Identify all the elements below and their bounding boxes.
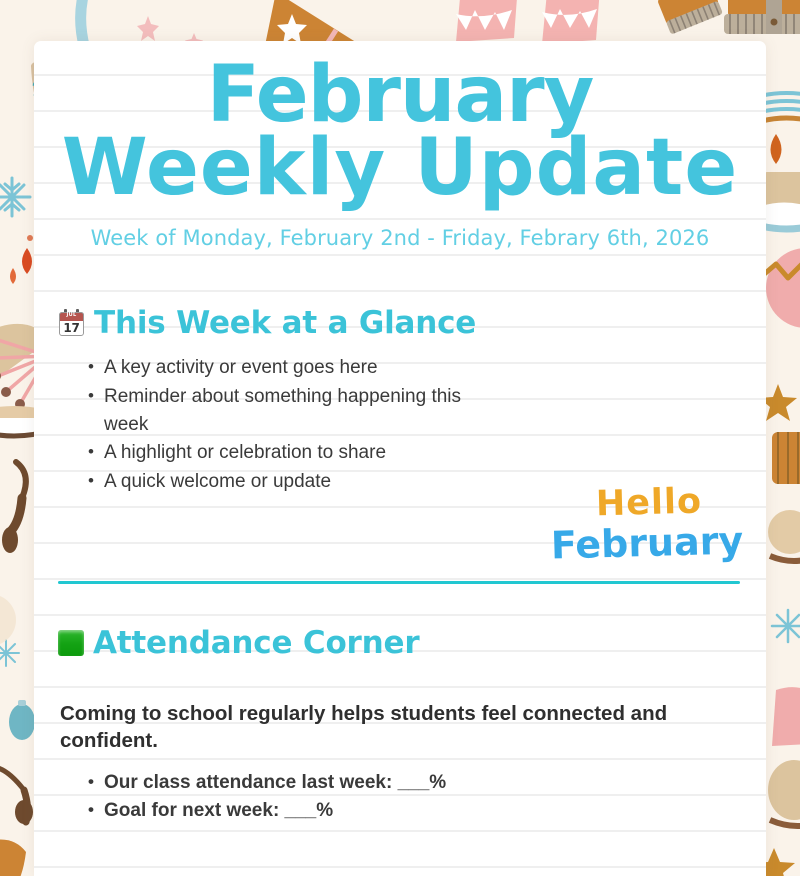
attendance-paragraph: Coming to school regularly helps student… bbox=[34, 700, 766, 754]
list-item: Goal for next week: ___% bbox=[104, 797, 724, 825]
list-item: Reminder about something happening this … bbox=[104, 383, 504, 439]
hello-february-sticker: Hello February bbox=[533, 481, 760, 567]
section-heading-attendance: Attendance Corner bbox=[34, 626, 766, 660]
calendar-icon: 17 bbox=[58, 309, 85, 337]
this-week-bullet-list: A key activity or event goes here Remind… bbox=[34, 354, 766, 496]
green-square-icon bbox=[58, 630, 84, 656]
list-item: Our class attendance last week: ___% bbox=[104, 769, 724, 797]
section-divider bbox=[58, 581, 740, 584]
section-heading-this-week: 17 This Week at a Glance bbox=[34, 306, 766, 340]
attendance-bullet-list: Our class attendance last week: ___% Goa… bbox=[34, 769, 766, 826]
calendar-day-label: 17 bbox=[59, 321, 84, 336]
list-item: A highlight or celebration to share bbox=[104, 439, 504, 467]
page-title-line-2: Weekly Update bbox=[34, 132, 766, 205]
newsletter-page: February Weekly Update Week of Monday, F… bbox=[34, 41, 766, 876]
page-subtitle: Week of Monday, February 2nd - Friday, F… bbox=[34, 226, 766, 250]
page-title: February Weekly Update bbox=[34, 59, 766, 204]
section-heading-label-this-week: This Week at a Glance bbox=[94, 306, 476, 340]
title-block: February Weekly Update Week of Monday, F… bbox=[34, 41, 766, 250]
section-heading-label-attendance: Attendance Corner bbox=[93, 626, 419, 660]
list-item: A quick welcome or update bbox=[104, 468, 504, 496]
list-item: A key activity or event goes here bbox=[104, 354, 504, 382]
sticker-line-2: February bbox=[534, 519, 760, 567]
section-attendance-corner: Attendance Corner Coming to school regul… bbox=[34, 626, 766, 826]
section-this-week-at-a-glance: 17 This Week at a Glance A key activity … bbox=[34, 306, 766, 496]
